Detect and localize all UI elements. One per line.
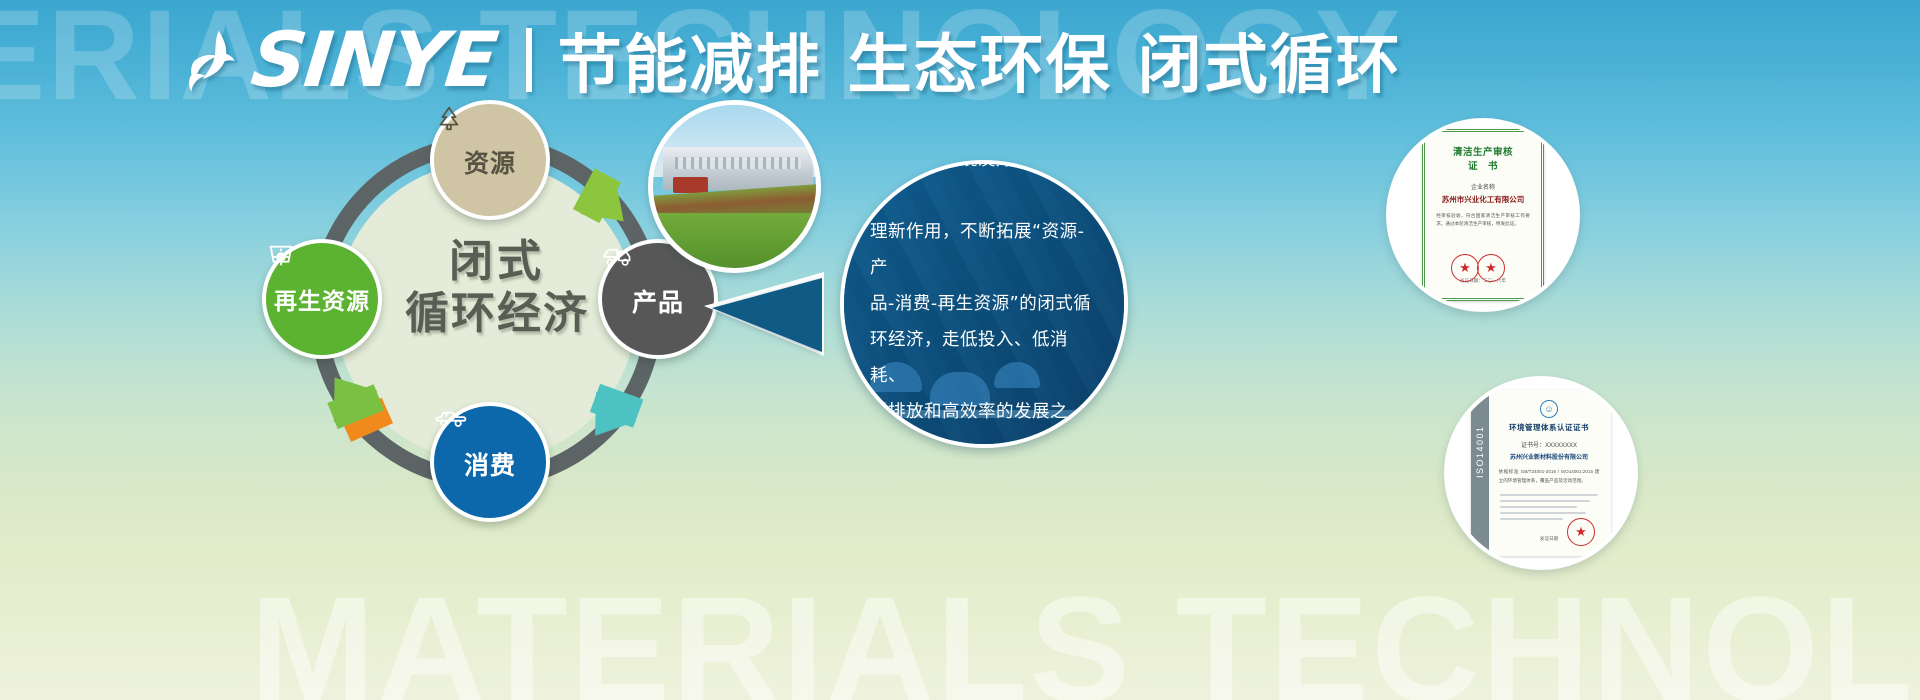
certificate-title-line2: 证 书	[1468, 161, 1498, 172]
certificate-date: 发证日期	[1540, 536, 1558, 542]
certificate-spine-text: ISO14001	[1475, 416, 1485, 478]
photo-truck	[673, 177, 709, 193]
seal-star: ★	[1459, 260, 1471, 276]
header-divider	[526, 28, 532, 92]
statement-bubble: 不断创造环境友好型化学及物 理新作用，不断拓展“资源-产 品-消费-再生资源”的…	[840, 160, 1128, 448]
statement-line: 不断创造环境友好型化学及物	[870, 160, 1098, 214]
photo-lawn	[653, 213, 816, 268]
headline-part1: 节能减排	[558, 29, 822, 103]
certificate-body: 依据标准 GB/T24001-2016 / ISO14001:2015 建立的环…	[1499, 468, 1600, 485]
certificate-subtitle: 证书号：XXXXXXXX	[1521, 440, 1577, 449]
statement-line: 低排放和高效率的发展之路。	[870, 394, 1098, 448]
certificate-iso14001[interactable]: ISO14001 ☺ 环境管理体系认证证书 证书号：XXXXXXXX 苏州兴业新…	[1444, 376, 1638, 570]
seal-star: ★	[1485, 260, 1497, 276]
cycle-node-resource[interactable]: 资源	[430, 100, 550, 220]
official-seal-icon: ★	[1451, 254, 1479, 282]
certificate-title-line1: 清洁生产审核	[1453, 147, 1513, 158]
certificate-clean-production[interactable]: 清洁生产审核 证 书 企业名称 苏州市兴业化工有限公司 经审核验收，符合国家清洁…	[1386, 118, 1580, 312]
watermark-bottom: MATERIALS TECHNOL	[250, 563, 1914, 700]
brand-wordmark: SINYE	[248, 22, 500, 98]
factory-photo	[648, 100, 821, 273]
certificate-page: 清洁生产审核 证 书 企业名称 苏州市兴业化工有限公司 经审核验收，符合国家清洁…	[1422, 129, 1544, 301]
banner-root: ERIALS TECHNOLOGY MATERIALS TECHNOL SINY…	[0, 0, 1920, 700]
cycle-node-label: 再生资源	[274, 291, 370, 314]
certificate-page: ISO14001 ☺ 环境管理体系认证证书 证书号：XXXXXXXX 苏州兴业新…	[1471, 390, 1611, 556]
cycle-node-label: 产品	[632, 290, 684, 315]
splash-leaf-icon	[180, 27, 248, 93]
official-seal-icon: ★	[1477, 254, 1505, 282]
certificate-company: 苏州市兴业化工有限公司	[1442, 194, 1525, 205]
certificate-company: 苏州兴业新材料股份有限公司	[1510, 452, 1588, 461]
headline-part3: 闭式循环	[1138, 29, 1402, 103]
cycle-node-label: 资源	[464, 151, 516, 176]
statement-line: 环经济，走低投入、低消耗、	[870, 322, 1098, 394]
cycle-node-label: 消费	[464, 453, 516, 478]
banner-header: SINYE 节能减排生态环保闭式循环	[180, 14, 1402, 106]
official-seal-icon: ★	[1567, 518, 1595, 546]
cycle-node-consume[interactable]: 消费	[430, 402, 550, 522]
certificate-subtitle: 企业名称	[1471, 182, 1495, 191]
cycle-center-line1: 闭式	[390, 236, 604, 288]
page-title: 节能减排生态环保闭式循环	[558, 14, 1402, 106]
cycle-center-label: 闭式 循环经济	[390, 236, 604, 340]
certificate-body: 经审核验收，符合国家清洁生产审核工作要求，通过本轮清洁生产审核，特发此证。	[1436, 212, 1530, 229]
cycle-node-recycle[interactable]: 再生资源	[262, 239, 382, 359]
statement-line: 理新作用，不断拓展“资源-产	[870, 214, 1098, 286]
certificate-title: 环境管理体系认证证书	[1509, 422, 1589, 433]
emblem-glyph: ☺	[1544, 404, 1553, 414]
statement-bubble-wrap: 不断创造环境友好型化学及物 理新作用，不断拓展“资源-产 品-消费-再生资源”的…	[800, 160, 1120, 480]
certificate-title: 清洁生产审核 证 书	[1453, 146, 1513, 175]
statement-line: 品-消费-再生资源”的闭式循	[870, 286, 1098, 322]
certification-emblem-icon: ☺	[1540, 400, 1558, 418]
cycle-center-line2: 循环经济	[390, 288, 604, 340]
bubble-tail	[712, 278, 822, 352]
headline-part2: 生态环保	[848, 29, 1112, 103]
statement-text: 不断创造环境友好型化学及物 理新作用，不断拓展“资源-产 品-消费-再生资源”的…	[844, 164, 1124, 444]
seal-star: ★	[1575, 524, 1587, 540]
certificate-spine: ISO14001	[1471, 390, 1489, 556]
closed-loop-cycle-diagram: 资源 产品 消费	[286, 112, 686, 512]
